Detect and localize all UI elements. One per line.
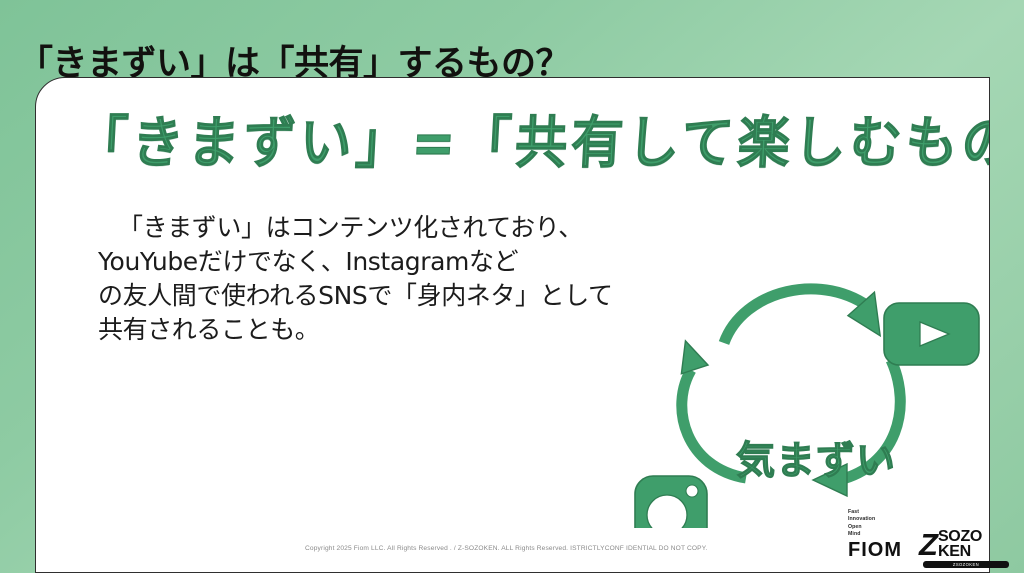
cycle-diagram: 気まずい (591, 218, 981, 528)
footer-logos: Fast Innovation Open Mind FIOM Z SOZO KE… (848, 509, 982, 560)
headline-handwritten: 「きまずい」=「共有して楽しむもの」 (74, 97, 958, 178)
footer-copyright: Copyright 2025 Fiom LLC. All Rights Rese… (305, 545, 707, 552)
fiom-tagline-1: Fast (848, 509, 910, 516)
fiom-tagline-2: Innovation (848, 516, 910, 523)
zsozoken-logo: Z SOZO KEN ZSOZOKEN (919, 530, 982, 559)
fiom-logo: Fast Innovation Open Mind FIOM (848, 509, 910, 560)
slide-root: 「きまずい」は「共有」するもの？ 「きまずい」=「共有して楽しむもの」 「きまず… (0, 0, 1024, 573)
cycle-center-label: 気まずい (706, 430, 926, 486)
youtube-icon[interactable] (884, 303, 979, 365)
zsozoken-subbar: ZSOZOKEN (923, 561, 1009, 568)
content-card-inner: 「きまずい」=「共有して楽しむもの」 「きまずい」はコンテンツ化されており、 Y… (36, 78, 989, 572)
top-arc-arrow-icon (724, 287, 898, 343)
z-mark-icon: Z (919, 532, 936, 558)
instagram-icon[interactable] (635, 476, 707, 528)
fiom-wordmark: FIOM (848, 540, 910, 560)
content-card: 「きまずい」=「共有して楽しむもの」 「きまずい」はコンテンツ化されており、 Y… (35, 77, 990, 573)
fiom-tagline-3: Open (848, 524, 910, 531)
zsozoken-line-2: KEN (938, 545, 982, 560)
fiom-tagline-4: Mind (848, 531, 910, 538)
zsozoken-wordmark: SOZO KEN (938, 530, 982, 559)
